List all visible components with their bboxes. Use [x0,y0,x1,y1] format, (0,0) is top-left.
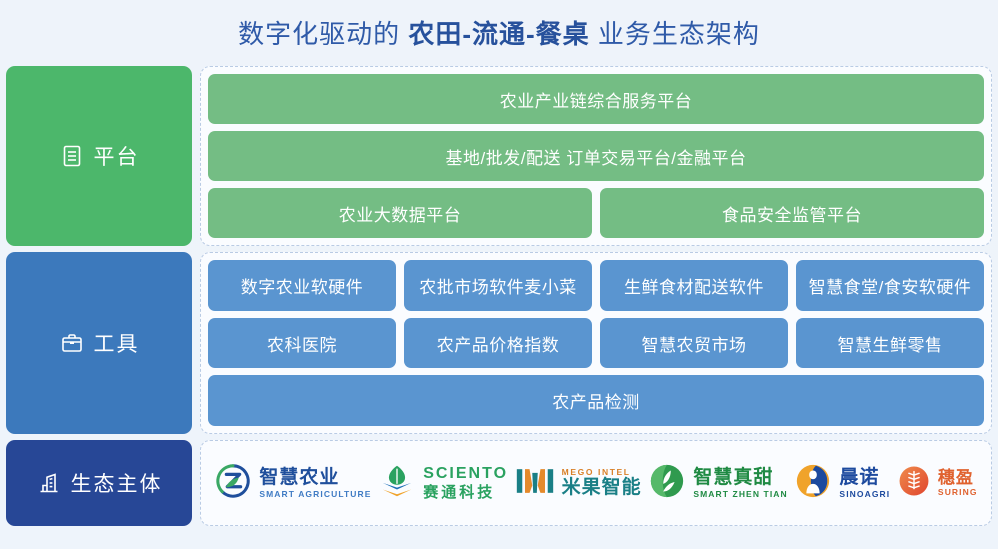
tools-row-1: 数字农业软硬件 农批市场软件麦小菜 生鲜食材配送软件 智慧食堂/食安软硬件 [208,260,984,311]
partner-logo-text: 智慧农业 SMART AGRICULTURE [259,468,371,499]
partner-logo-text: MEGO INTEL 米果智能 [562,468,642,499]
building-icon [36,470,62,496]
tool-chip[interactable]: 数字农业软硬件 [208,260,396,311]
partner-name-cn: 智慧真甜 [693,468,787,488]
tool-chip[interactable]: 生鲜食材配送软件 [600,260,788,311]
platform-panel: 农业产业链综合服务平台 基地/批发/配送 订单交易平台/金融平台 农业大数据平台… [200,66,992,246]
section-label-tools[interactable]: 工具 [6,252,192,434]
platform-chip[interactable]: 基地/批发/配送 订单交易平台/金融平台 [208,131,984,181]
title-prefix: 数字化驱动的 [238,19,408,49]
document-list-icon [59,143,85,169]
tools-row-2: 农科医院 农产品价格指数 智慧农贸市场 智慧生鲜零售 [208,318,984,369]
platform-chip[interactable]: 农业大数据平台 [208,188,592,238]
briefcase-icon [59,330,85,356]
platform-chip[interactable]: 食品安全监管平台 [600,188,984,238]
partner-logo-smart-agriculture[interactable]: 智慧农业 SMART AGRICULTURE [214,462,371,505]
circle-z-leaf-icon [214,462,252,505]
sun-figure-icon [794,462,832,505]
partner-logo-text: 穗盈 SURING [938,469,978,498]
tool-chip[interactable]: 农产品检测 [208,375,984,426]
platform-row-2: 基地/批发/配送 订单交易平台/金融平台 [208,131,984,181]
partner-name-en: MEGO INTEL [562,468,642,477]
title-highlight: 农田-流通-餐桌 [408,19,589,49]
title-suffix: 业务生态架构 [590,19,760,49]
page-title: 数字化驱动的 农田-流通-餐桌 业务生态架构 [0,0,998,64]
partner-logo-smart-zhen-tian[interactable]: 智慧真甜 SMART ZHEN TIAN [648,462,787,505]
section-ecosystem: 生态主体 智慧农业 SMART AGRICUL [6,440,992,526]
partner-name-en: SURING [938,488,978,497]
partner-name-cn: 智慧农业 [259,468,371,488]
partner-name-en: SCIENTO [423,466,508,483]
partner-logo-suring[interactable]: 穗盈 SURING [897,464,978,503]
partner-logo-text: 晨诺 SINOAGRI [839,468,890,499]
partner-logo-mego-intel[interactable]: MEGO INTEL 米果智能 [515,464,642,503]
partner-logo-text: 智慧真甜 SMART ZHEN TIAN [693,468,787,499]
tools-panel: 数字农业软硬件 农批市场软件麦小菜 生鲜食材配送软件 智慧食堂/食安软硬件 农科… [200,252,992,434]
partner-name-cn: 赛通科技 [423,485,508,501]
tool-chip[interactable]: 智慧食堂/食安软硬件 [796,260,984,311]
page-title-text: 数字化驱动的 农田-流通-餐桌 业务生态架构 [238,14,760,51]
partner-logo-sinoagri[interactable]: 晨诺 SINOAGRI [794,462,890,505]
ecosystem-logo-strip: 智慧农业 SMART AGRICULTURE [200,440,992,526]
tool-chip[interactable]: 农产品价格指数 [404,318,592,369]
platform-chip[interactable]: 农业产业链综合服务平台 [208,74,984,124]
wheat-circle-icon [897,464,931,503]
partner-name-cn: 晨诺 [839,468,890,488]
section-label-platform-text: 平台 [94,141,140,171]
partner-name-cn: 穗盈 [938,469,978,487]
partner-name-cn: 米果智能 [562,478,642,498]
tool-chip[interactable]: 智慧农贸市场 [600,318,788,369]
tool-chip[interactable]: 农批市场软件麦小菜 [404,260,592,311]
platform-row-3: 农业大数据平台 食品安全监管平台 [208,188,984,238]
section-label-ecosystem-text: 生态主体 [71,468,163,498]
section-tools: 工具 数字农业软硬件 农批市场软件麦小菜 生鲜食材配送软件 智慧食堂/食安软硬件… [6,252,992,434]
partner-name-en: SMART ZHEN TIAN [693,490,787,499]
m-letter-icon [515,464,555,503]
tools-row-3: 农产品检测 [208,375,984,426]
partner-name-en: SINOAGRI [839,490,890,499]
section-label-tools-text: 工具 [94,328,140,358]
tool-chip[interactable]: 智慧生鲜零售 [796,318,984,369]
section-platform: 平台 农业产业链综合服务平台 基地/批发/配送 订单交易平台/金融平台 农业大数… [6,66,992,246]
section-label-platform[interactable]: 平台 [6,66,192,246]
section-stack: 平台 农业产业链综合服务平台 基地/批发/配送 订单交易平台/金融平台 农业大数… [0,66,998,545]
tool-chip[interactable]: 农科医院 [208,318,396,369]
section-label-ecosystem[interactable]: 生态主体 [6,440,192,526]
leaf-chevron-icon [378,462,416,505]
partner-name-en: SMART AGRICULTURE [259,490,371,499]
platform-row-1: 农业产业链综合服务平台 [208,74,984,124]
partner-logo-sciento[interactable]: SCIENTO 赛通科技 [378,462,508,505]
green-circle-sprout-icon [648,462,686,505]
diagram-canvas: 数字化驱动的 农田-流通-餐桌 业务生态架构 平台 农业产业链综合服务平台 [0,0,998,549]
partner-logo-text: SCIENTO 赛通科技 [423,466,508,501]
